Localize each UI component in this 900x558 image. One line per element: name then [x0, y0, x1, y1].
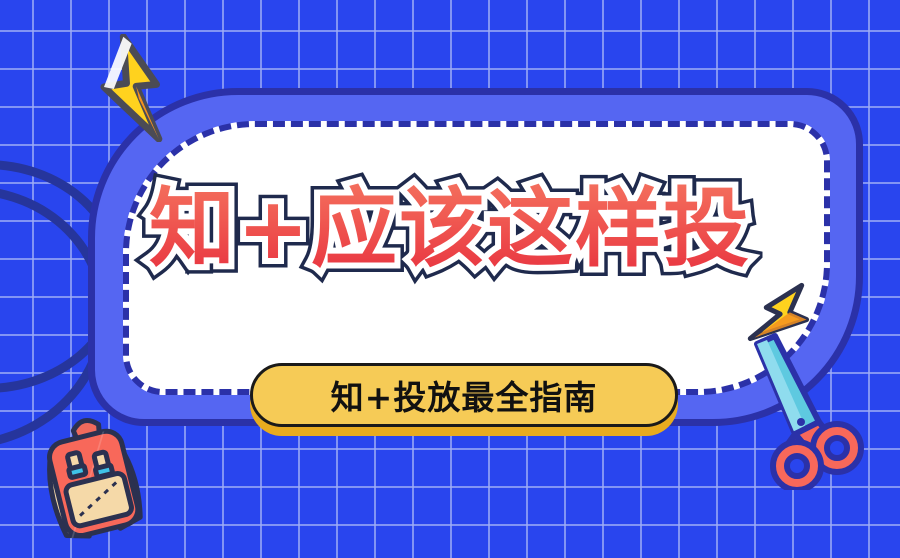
poster-card-inner [123, 121, 830, 395]
backpack-icon [24, 410, 174, 550]
cta-button-label: 知+投放最全指南 [331, 371, 598, 419]
scissors-icon [745, 330, 865, 490]
poster-canvas: 知+应该这样投 知+应该这样投 知+应该这样投 知+投放最全指南 [0, 0, 900, 558]
cta-button[interactable]: 知+投放最全指南 [250, 363, 678, 427]
lightning-bolt-icon [78, 34, 188, 142]
